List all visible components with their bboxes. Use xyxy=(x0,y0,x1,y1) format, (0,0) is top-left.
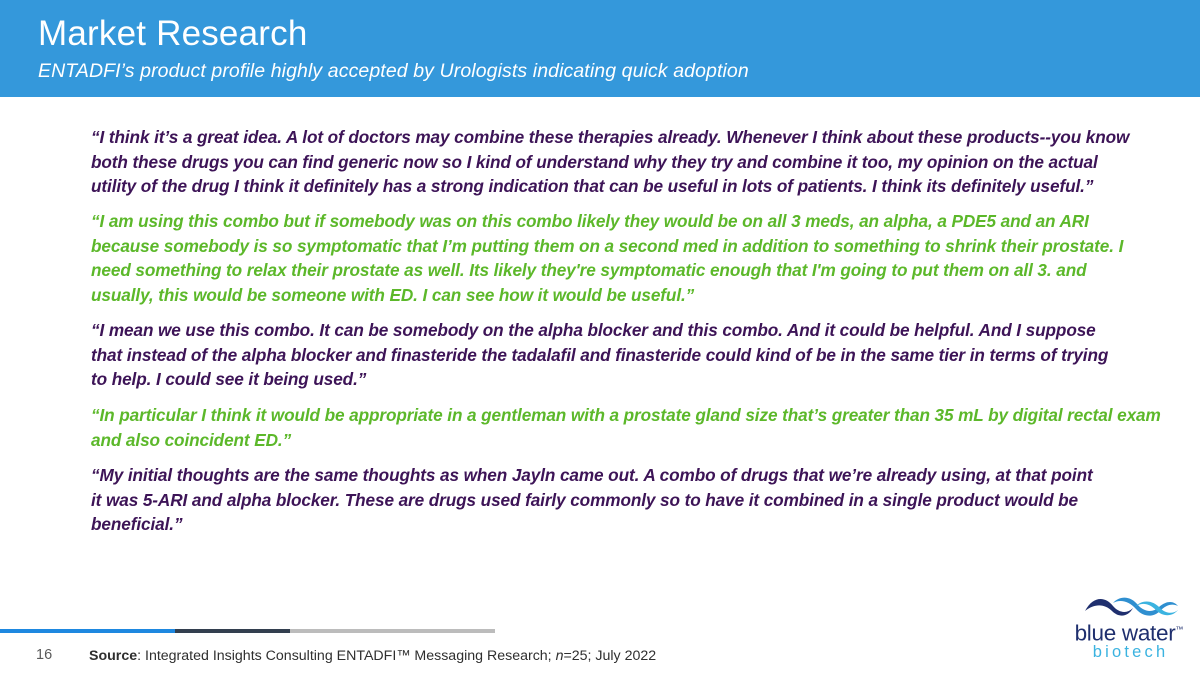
slide-header: Market Research ENTADFI’s product profil… xyxy=(0,0,1200,97)
quote-item: “My initial thoughts are the same though… xyxy=(91,463,1101,537)
quote-item: “I am using this combo but if somebody w… xyxy=(91,209,1137,307)
logo-sub-wordmark: biotech xyxy=(1073,643,1185,662)
page-number: 16 xyxy=(36,645,52,665)
divider-segment-dark xyxy=(175,629,290,633)
page-title: Market Research xyxy=(38,13,307,54)
company-logo: blue water™ biotech xyxy=(1073,597,1185,667)
divider-segment-blue xyxy=(0,629,175,633)
source-citation: Source: Integrated Insights Consulting E… xyxy=(89,646,656,666)
trademark-icon: ™ xyxy=(1175,625,1183,634)
quote-item: “In particular I think it would be appro… xyxy=(91,403,1173,452)
quote-list: “I think it’s a great idea. A lot of doc… xyxy=(91,125,1173,537)
source-separator: : xyxy=(137,648,145,664)
logo-wordmark-text: blue water xyxy=(1075,621,1176,646)
page-subtitle: ENTADFI’s product profile highly accepte… xyxy=(38,59,749,84)
quote-item: “I think it’s a great idea. A lot of doc… xyxy=(91,125,1131,199)
source-label: Source xyxy=(89,648,137,664)
divider-segment-light xyxy=(290,629,495,633)
footer-divider xyxy=(0,629,495,633)
quote-item: “I mean we use this combo. It can be som… xyxy=(91,318,1121,392)
source-text-secondary: =25; July 2022 xyxy=(563,648,656,664)
source-text-primary: Integrated Insights Consulting ENTADFI™ … xyxy=(145,648,556,664)
